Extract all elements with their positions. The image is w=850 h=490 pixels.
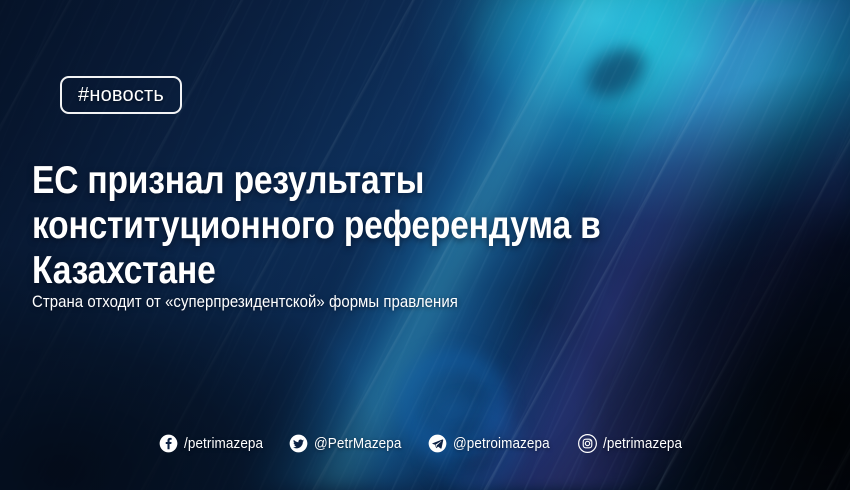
social-handle-instagram: /petrimazepa xyxy=(603,435,682,452)
social-link-facebook[interactable]: /petrimazepa xyxy=(159,434,272,453)
news-card: #новость ЕС признал результаты конституц… xyxy=(0,0,850,490)
social-handle-facebook: /petrimazepa xyxy=(184,435,263,452)
headline: ЕС признал результаты конституционного р… xyxy=(32,158,634,293)
social-link-instagram[interactable]: /petrimazepa xyxy=(578,434,691,453)
subtitle: Страна отходит от «суперпрезидентской» ф… xyxy=(32,292,458,312)
telegram-icon xyxy=(428,434,447,453)
social-link-twitter[interactable]: @PetrMazepa xyxy=(289,434,411,453)
social-handle-twitter: @PetrMazepa xyxy=(314,435,401,452)
card-content: #новость ЕС признал результаты конституц… xyxy=(0,0,850,490)
twitter-icon xyxy=(289,434,308,453)
social-links-bar: /petrimazepa @PetrMazepa @petroimazepa xyxy=(0,434,850,453)
instagram-icon xyxy=(578,434,597,453)
social-link-telegram[interactable]: @petroimazepa xyxy=(428,434,560,453)
social-handle-telegram: @petroimazepa xyxy=(453,435,550,452)
facebook-icon xyxy=(159,434,178,453)
category-tag-badge[interactable]: #новость xyxy=(60,76,182,114)
